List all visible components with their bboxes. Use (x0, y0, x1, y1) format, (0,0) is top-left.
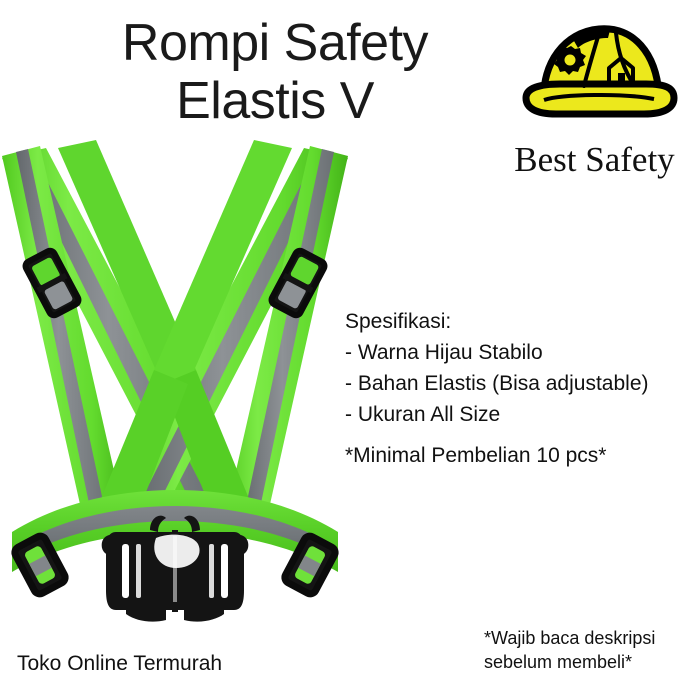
page-title-line-1: Rompi Safety (60, 14, 490, 72)
safety-vest-photo (0, 140, 350, 630)
shop-tagline: Toko Online Termurah (17, 652, 222, 676)
brand-name: Best Safety (492, 140, 697, 180)
page-title: Rompi Safety Elastis V (60, 14, 490, 130)
buy-notice: *Wajib baca deskripsi sebelum membeli* (484, 626, 655, 674)
buy-notice-line-1: *Wajib baca deskripsi (484, 626, 655, 650)
buy-notice-line-2: sebelum membeli* (484, 650, 655, 674)
spec-heading: Spesifikasi: (345, 306, 695, 337)
brand-logo: Best Safety (492, 8, 697, 188)
specification-block: Spesifikasi: - Warna Hijau Stabilo - Bah… (345, 306, 695, 430)
spec-item-material: - Bahan Elastis (Bisa adjustable) (345, 368, 695, 399)
spec-item-size: - Ukuran All Size (345, 399, 695, 430)
minimum-order-note: *Minimal Pembelian 10 pcs* (345, 442, 606, 470)
hard-hat-icon (514, 8, 684, 136)
spec-item-color: - Warna Hijau Stabilo (345, 337, 695, 368)
product-listing-image: Rompi Safety Elastis V (0, 0, 700, 700)
page-title-line-2: Elastis V (60, 72, 490, 130)
